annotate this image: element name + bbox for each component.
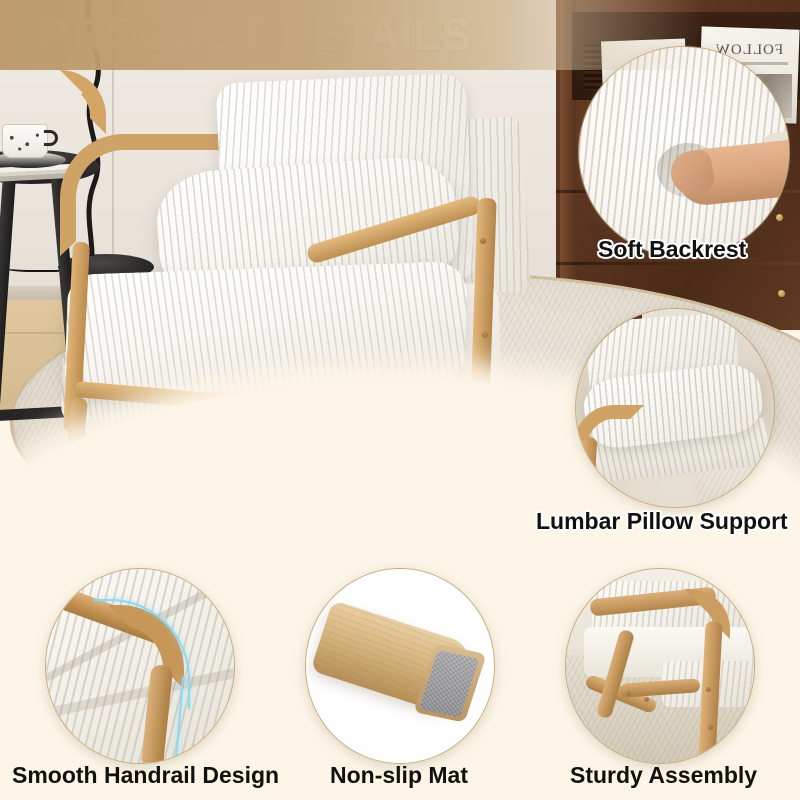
assembly-dowel — [708, 725, 713, 730]
callout-label-smooth-handrail-design: Smooth Handrail Design — [12, 762, 279, 789]
cabinet-knob — [778, 290, 785, 297]
assembly-dowel — [626, 691, 631, 696]
callout-lumbar-pillow-support — [575, 308, 775, 508]
assembly-dowel — [644, 697, 649, 702]
callout-non-slip-mat — [305, 568, 495, 764]
chair-dowel — [482, 332, 488, 338]
chair-dowel — [480, 238, 486, 244]
chair-seat-cushion — [64, 261, 468, 397]
callout-label-lumbar-pillow-support: Lumbar Pillow Support — [536, 508, 788, 535]
callout-label-non-slip-mat: Non-slip Mat — [330, 762, 468, 789]
assembly-dowel — [706, 687, 711, 692]
product-details-page: FOLLOW — [0, 0, 800, 800]
patterned-mug — [2, 124, 48, 158]
title-banner — [0, 0, 800, 70]
chair-right-arm-curve — [60, 70, 106, 134]
callout-label-soft-backrest: Soft Backrest — [598, 236, 746, 263]
callout-sturdy-assembly — [565, 568, 755, 764]
callout-smooth-handrail-design — [45, 568, 235, 764]
callout-soft-backrest — [578, 46, 790, 258]
callout-label-sturdy-assembly: Sturdy Assembly — [570, 762, 757, 789]
